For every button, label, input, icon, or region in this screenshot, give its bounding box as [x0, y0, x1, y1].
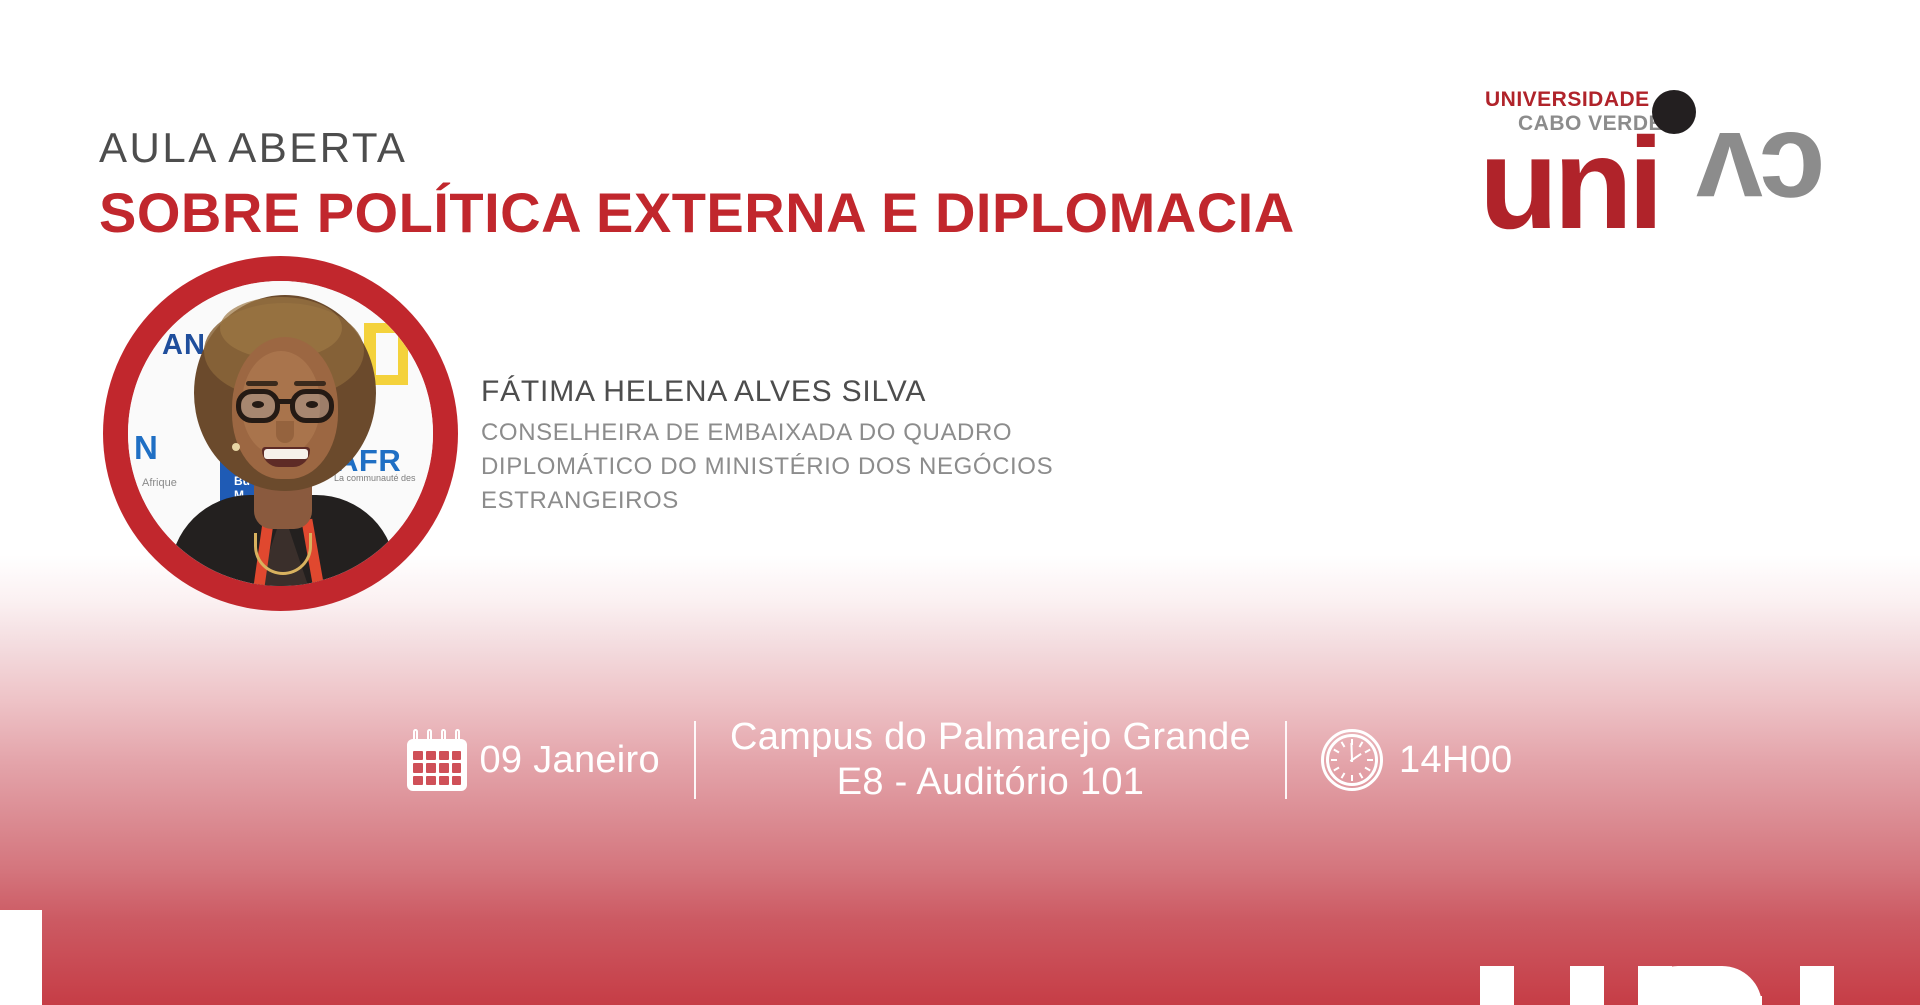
uni-watermark [1470, 948, 1920, 1005]
watermark-n-left-stem [1638, 966, 1672, 1005]
event-venue-text: Campus do Palmarejo Grande E8 - Auditóri… [730, 715, 1251, 805]
backdrop-afr-subtitle: La communauté des [334, 473, 416, 483]
calendar-grid [413, 751, 461, 785]
poster-headline: SOBRE POLÍTICA EXTERNA E DIPLOMACIA [99, 180, 1295, 245]
bottom-left-notch [0, 910, 42, 1005]
poster-kicker: AULA ABERTA [99, 124, 407, 172]
event-time-text: 14H00 [1399, 738, 1512, 783]
watermark-n-right-stem [1728, 996, 1762, 1005]
backdrop-yellow-cut [376, 333, 398, 375]
speaker-name: FÁTIMA HELENA ALVES SILVA [481, 375, 926, 409]
speaker-role: CONSELHEIRA DE EMBAIXADA DO QUADRO DIPLO… [481, 416, 1101, 518]
watermark-u-left-stem [1480, 966, 1514, 1005]
portrait-eyebrow-right [294, 381, 326, 386]
event-date-text: 09 Janeiro [479, 738, 659, 783]
speaker-portrait-ring: AN N Afrique AFR La communauté des Co Bu… [103, 256, 458, 611]
watermark-u-right-stem [1570, 966, 1604, 1005]
backdrop-n-text: N [134, 429, 159, 467]
event-venue-item: Campus do Palmarejo Grande E8 - Auditóri… [730, 715, 1251, 805]
backdrop-afrique-text: Afrique [142, 477, 177, 489]
event-time-item: 14H00 [1321, 729, 1512, 791]
speaker-portrait: AN N Afrique AFR La communauté des Co Bu… [128, 281, 433, 586]
event-details-bar: 09 Janeiro Campus do Palmarejo Grande E8… [0, 660, 1920, 860]
footer-separator-1 [694, 721, 696, 799]
clock-tick-9 [1331, 759, 1337, 761]
watermark-i-stem [1800, 966, 1834, 1005]
footer-separator-2 [1285, 721, 1287, 799]
clock-tick-3 [1367, 759, 1373, 761]
poster-canvas: AULA ABERTA SOBRE POLÍTICA EXTERNA E DIP… [0, 0, 1920, 1005]
portrait-eyeglass-bridge [278, 399, 292, 404]
portrait-earring [232, 443, 240, 451]
clock-tick-6 [1351, 775, 1353, 781]
portrait-eye-right [306, 401, 318, 408]
logo-cv-wordmark: cv [1700, 114, 1825, 234]
event-date-item: 09 Janeiro [407, 729, 659, 791]
portrait-nose [276, 421, 294, 443]
clock-icon [1321, 729, 1383, 791]
portrait-eyebrow-left [246, 381, 278, 386]
calendar-icon [407, 729, 467, 791]
portrait-eye-left [252, 401, 264, 408]
portrait-teeth [264, 449, 308, 459]
logo-universidade-text: UNIVERSIDADE [1485, 88, 1650, 112]
logo-uni-wordmark: uni [1479, 118, 1659, 248]
unicv-logo[interactable]: UNIVERSIDADE CABO VERDE uni cv [1485, 88, 1805, 248]
